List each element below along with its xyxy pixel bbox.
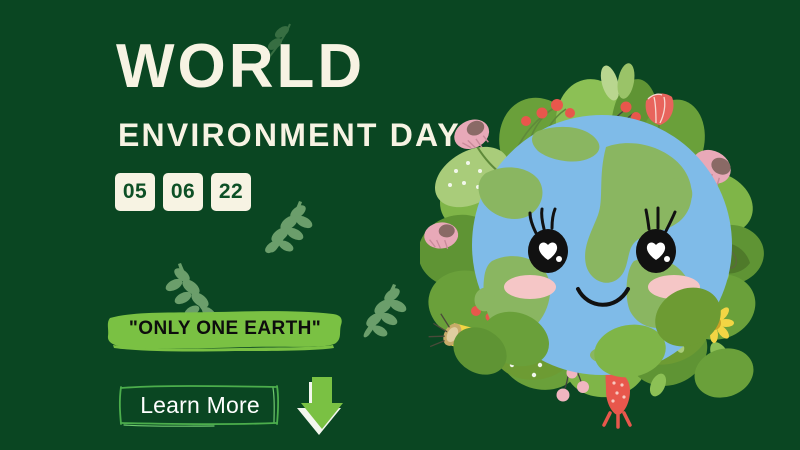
tagline: "ONLY ONE EARTH" — [105, 305, 345, 353]
date-chip-year: 22 — [211, 173, 251, 211]
world-environment-day-banner: WORLD ENVIRONMENT DAY 05 06 22 "ONLY ONE… — [0, 0, 800, 450]
leaf-sprig-icon — [258, 198, 316, 260]
leaf-sprig-icon — [352, 280, 410, 344]
page-subtitle: ENVIRONMENT DAY — [118, 118, 461, 152]
learn-more-button[interactable]: Learn More — [118, 383, 282, 427]
earth-illustration — [420, 55, 790, 450]
learn-more-label: Learn More — [118, 383, 282, 427]
page-title: WORLD — [116, 36, 365, 98]
date-chip-month: 06 — [163, 173, 203, 211]
date-chip-day: 05 — [115, 173, 155, 211]
tagline-text: "ONLY ONE EARTH" — [105, 305, 345, 353]
event-date: 05 06 22 — [115, 173, 251, 211]
arrow-down-icon[interactable] — [296, 375, 348, 442]
